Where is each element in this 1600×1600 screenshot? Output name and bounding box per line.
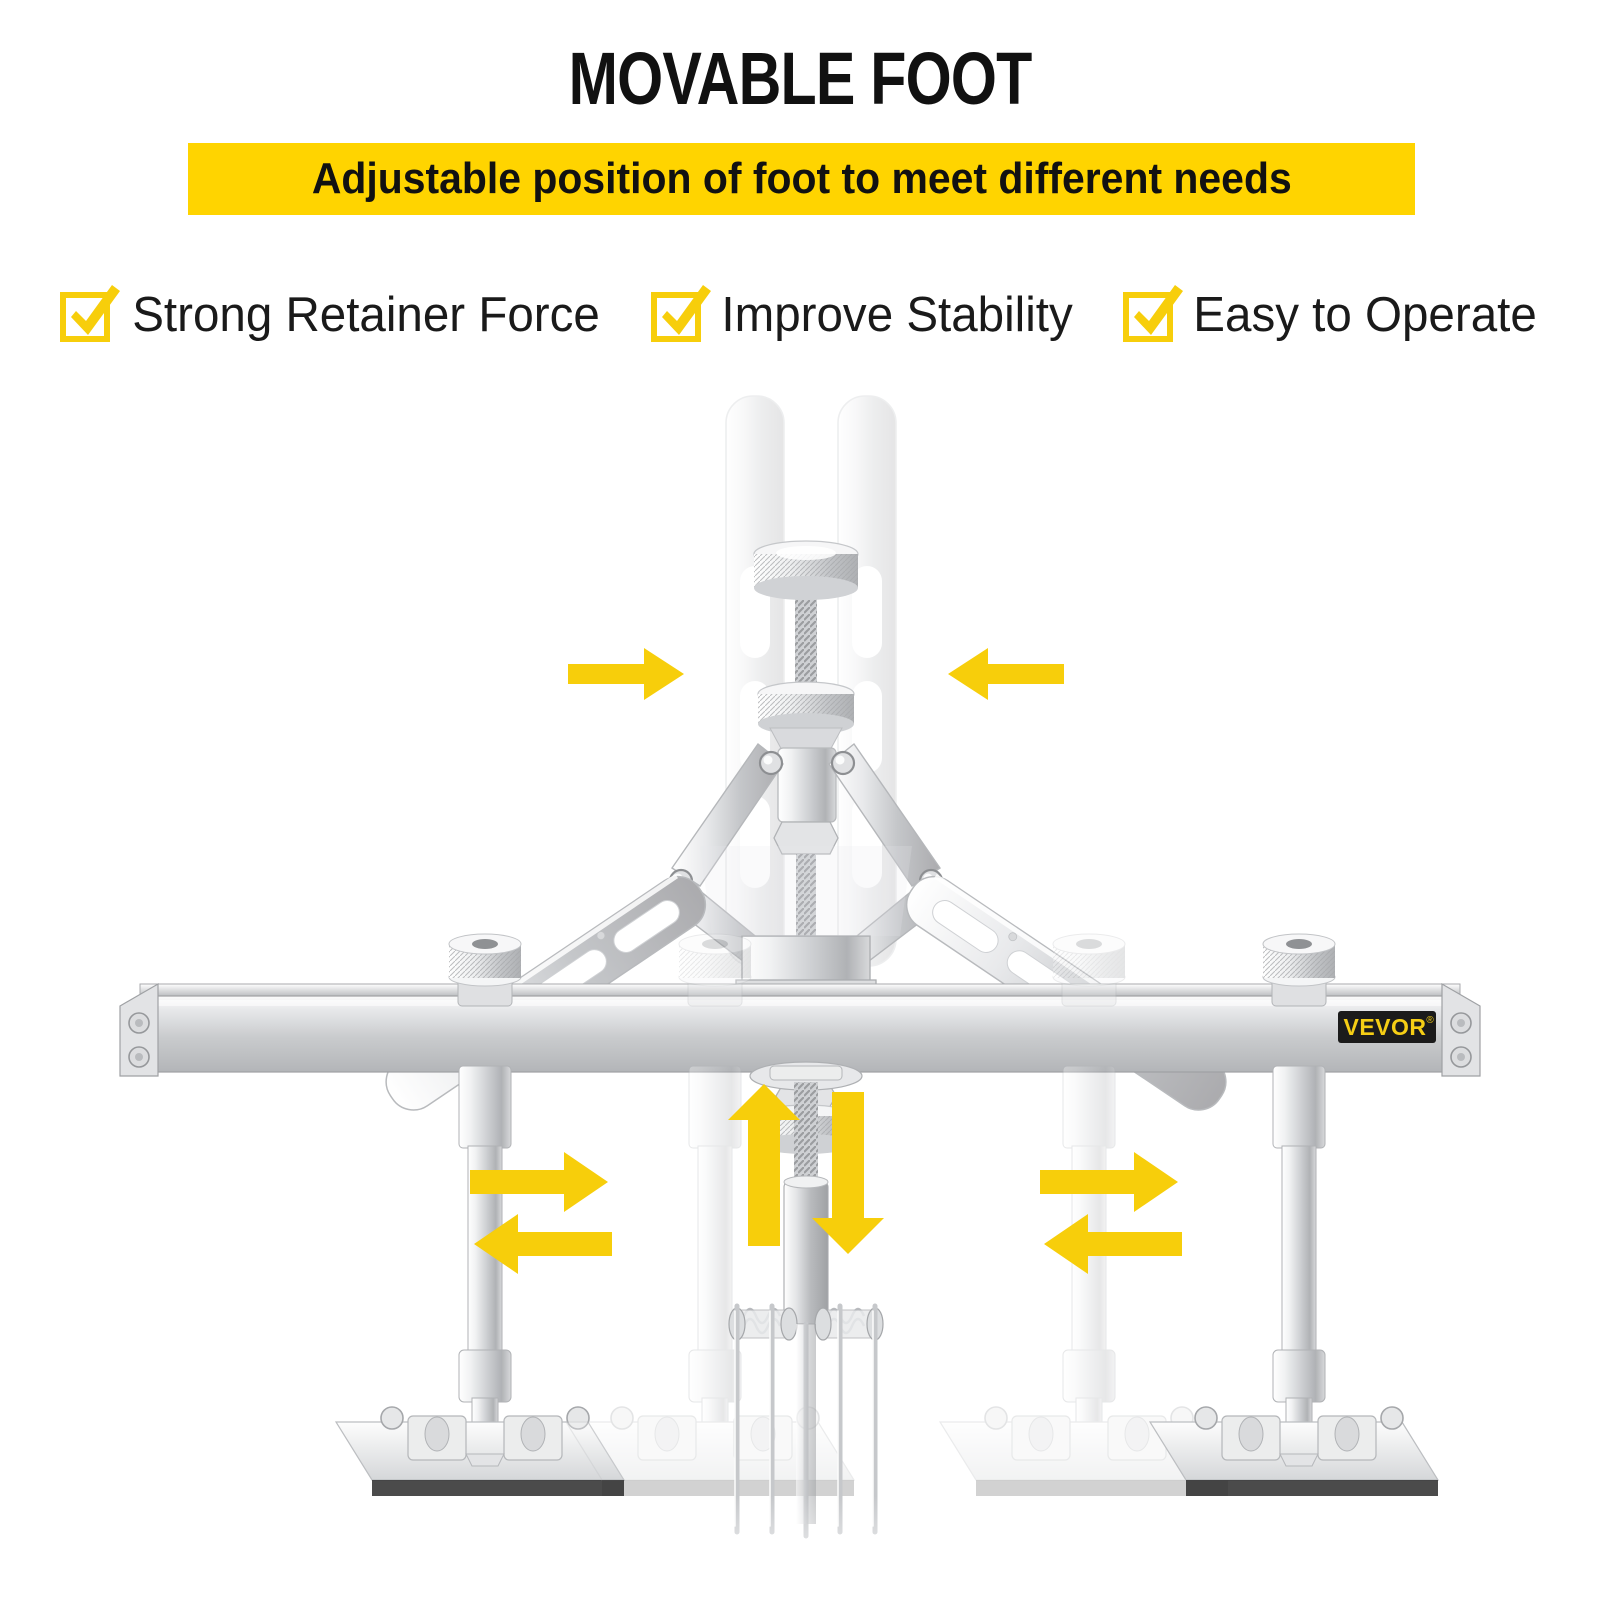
feature-label: Easy to Operate <box>1193 291 1536 340</box>
feature-list: Strong Retainer Force Improve Stability … <box>0 272 1600 358</box>
arm-collapse-arrow-right <box>948 648 1064 700</box>
ghost-lock-collar-left-inner <box>679 934 751 1006</box>
lock-collar-left-outer <box>449 934 521 1006</box>
puller-threaded-rod <box>794 1082 818 1182</box>
checkbox-checked-icon <box>649 287 703 343</box>
reflection-fade <box>640 1496 980 1600</box>
lock-collar-right-outer <box>1263 934 1335 1006</box>
leg-right-outer <box>1273 1066 1325 1454</box>
feature-item-easy-to-operate: Easy to Operate <box>1121 287 1542 343</box>
feature-item-strong-retainer-force: Strong Retainer Force <box>58 287 607 343</box>
right-foot-arrow-left <box>1044 1214 1182 1274</box>
feature-item-improve-stability: Improve Stability <box>649 287 1078 343</box>
feature-label: Improve Stability <box>722 291 1073 340</box>
feature-label: Strong Retainer Force <box>133 291 601 340</box>
arm-collapse-arrow-left <box>568 648 684 700</box>
product-illustration: VEVOR ® <box>0 376 1600 1600</box>
checkbox-checked-icon <box>1121 287 1175 343</box>
vevor-brand-label: VEVOR <box>1343 1014 1426 1040</box>
ghost-arm-right-slots <box>852 566 882 888</box>
headline-banner: Adjustable position of foot to meet diff… <box>188 143 1415 215</box>
page-title: MOVABLE FOOT <box>160 36 1440 121</box>
top-knurled-knob <box>754 541 858 600</box>
upper-pivot-block <box>778 748 836 822</box>
registered-mark: ® <box>1426 1015 1434 1026</box>
right-foot-arrow-right <box>1040 1152 1178 1212</box>
bar-end-cap-left <box>120 984 158 1076</box>
bar-end-cap-right <box>1442 984 1480 1076</box>
ghost-carriage <box>700 846 912 936</box>
headline-banner-text: Adjustable position of foot to meet diff… <box>312 157 1292 201</box>
vevor-brand-plate: VEVOR ® <box>1338 1011 1436 1043</box>
ghost-lock-collar-right-inner <box>1053 934 1125 1006</box>
checkbox-checked-icon <box>58 287 112 343</box>
puller-barrel <box>784 1182 828 1324</box>
